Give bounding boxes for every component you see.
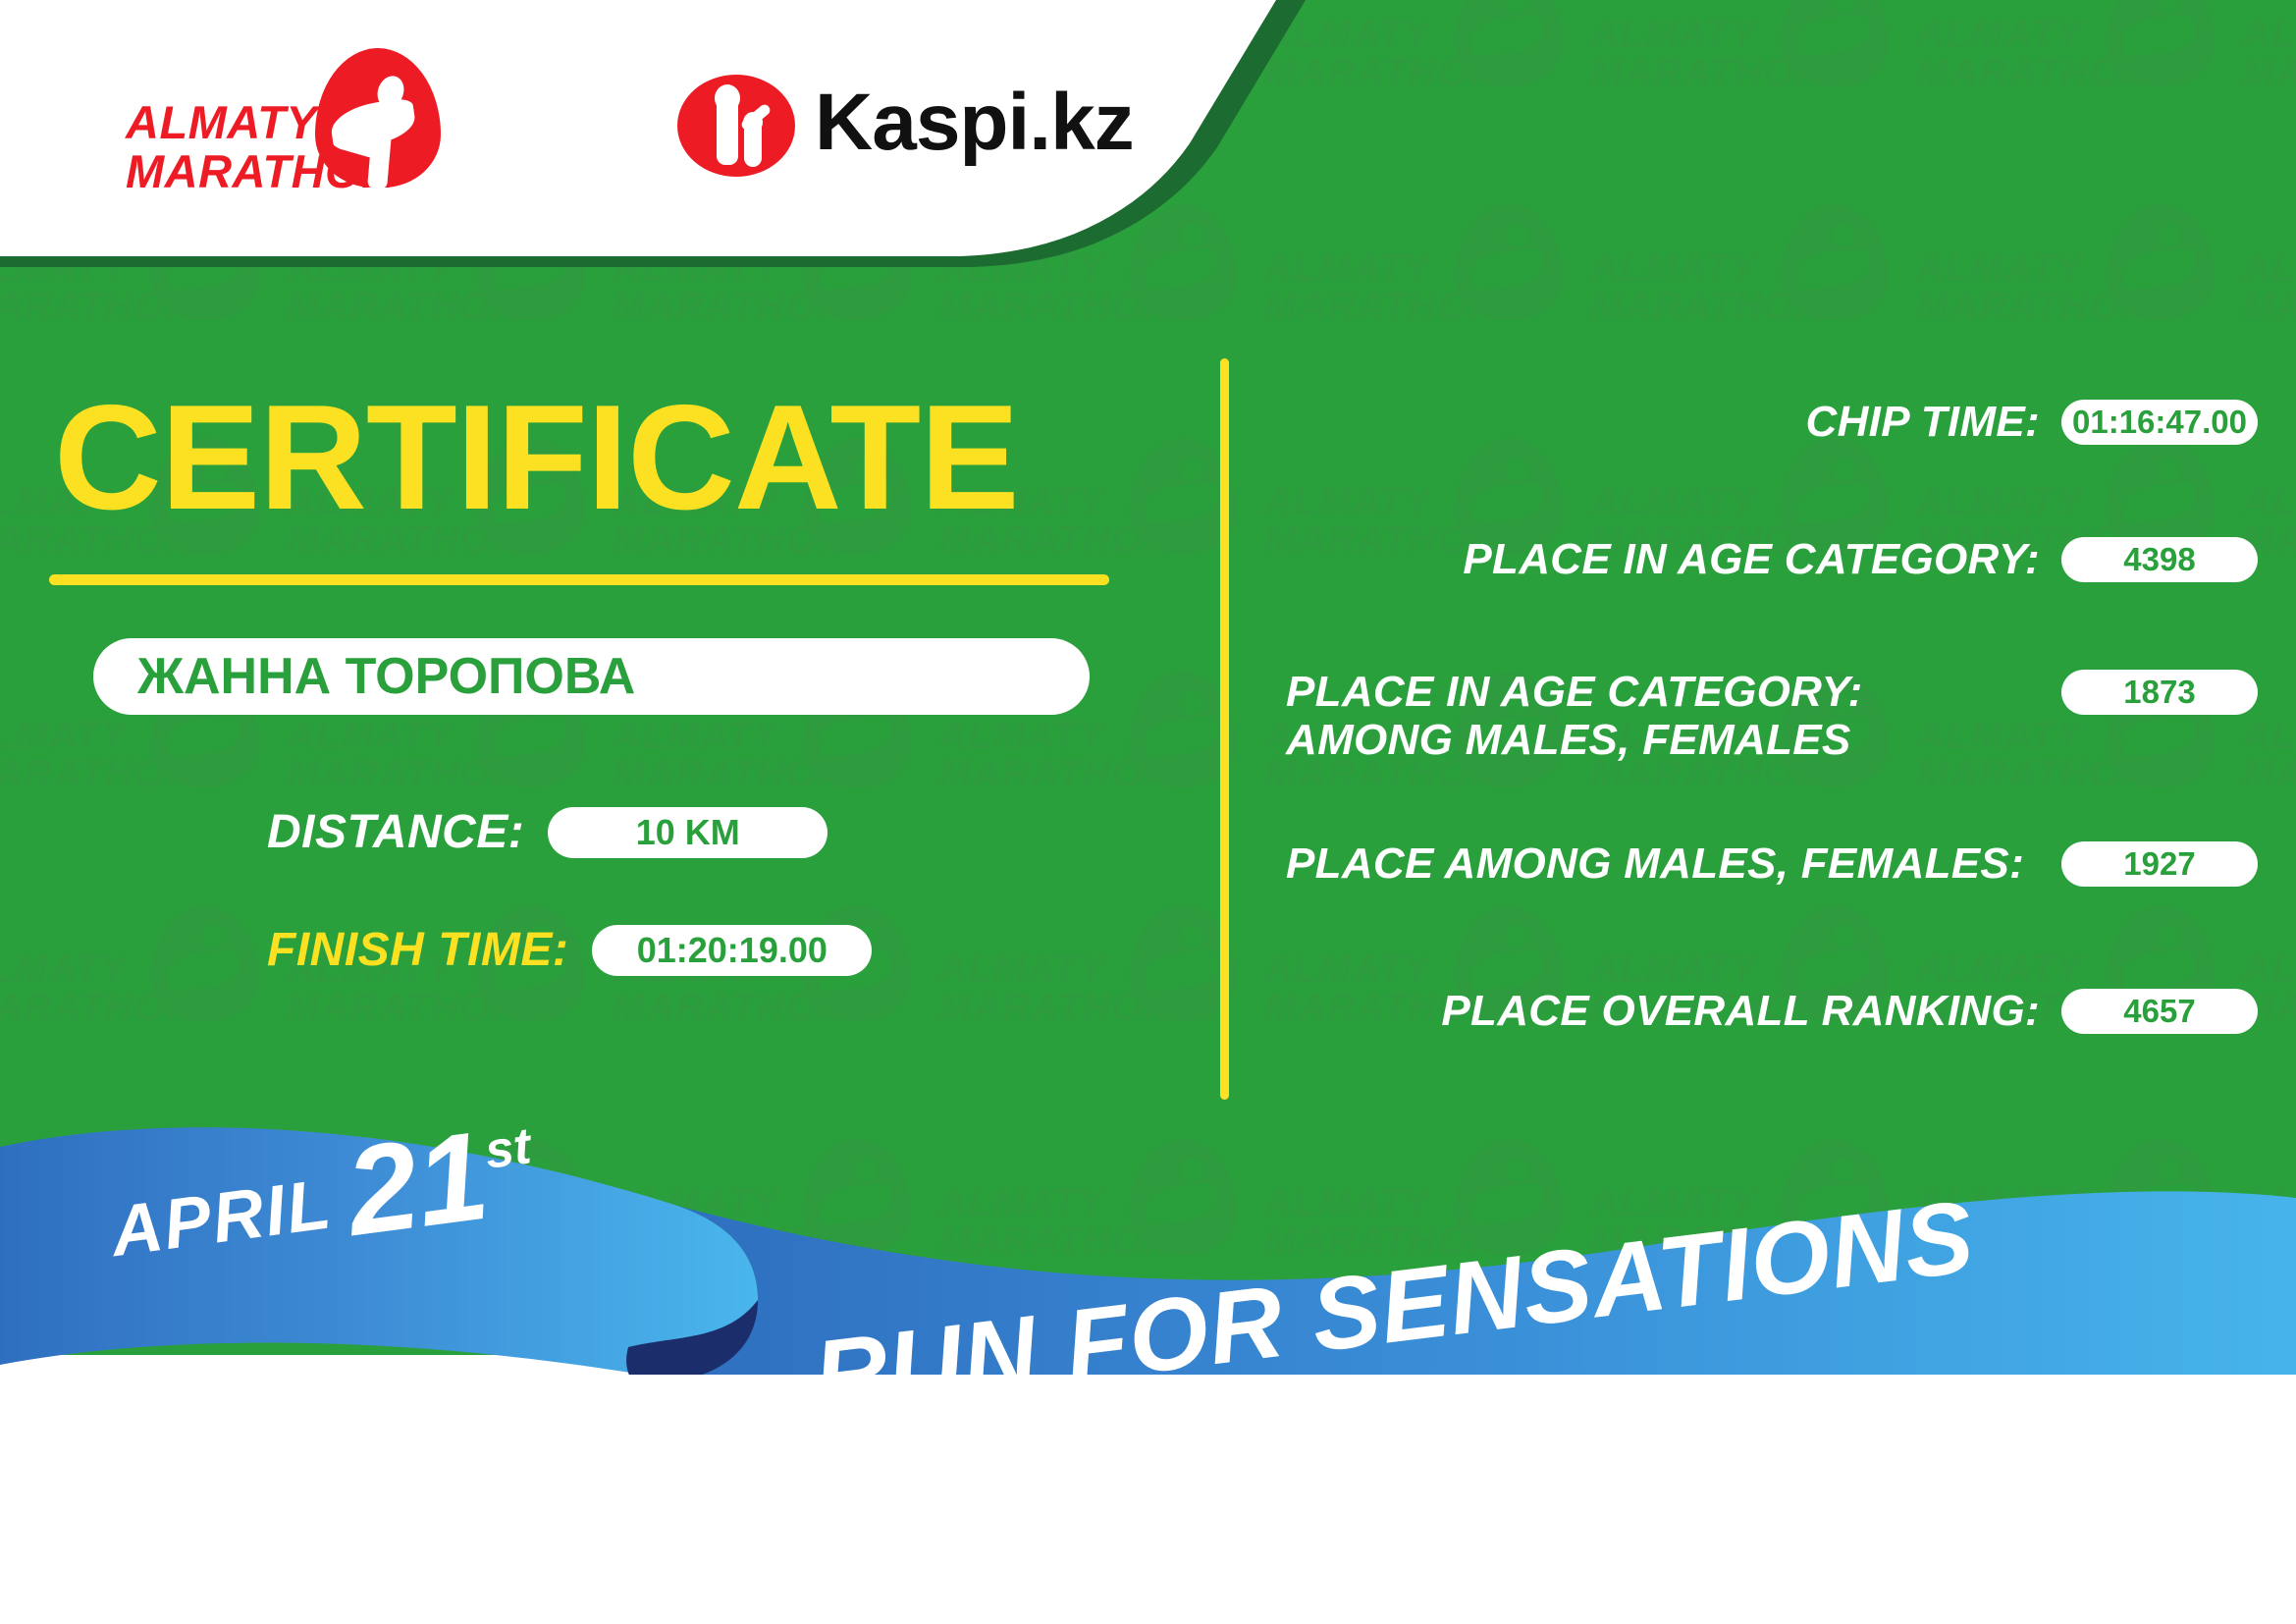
distance-label: DISTANCE: [267,805,524,859]
almaty-marathon-logo: ALMATY MARATHON [126,51,440,198]
result-row-place-age-category-gender: PLACE IN AGE CATEGORY: AMONG MALES, FEMA… [1276,668,2258,765]
certificate-page: ALMATYMARATHONALMATYMARATHONALMATYMARATH… [0,0,2296,1624]
kaspi-adult-body [717,88,738,165]
place-among-gender-value: 1927 [2123,845,2195,883]
kaspi-logo: Kaspi.kz [677,69,1090,187]
place-overall-label: PLACE OVERALL RANKING: [1276,987,2061,1035]
place-overall-value: 4657 [2123,993,2195,1030]
distance-value-pill: 10 KM [548,807,828,858]
place-overall-value-pill: 4657 [2061,989,2258,1034]
place-among-gender-value-pill: 1927 [2061,841,2258,887]
event-day: 21 [341,1119,494,1250]
place-age-category-gender-value: 1873 [2123,674,2195,711]
place-age-category-gender-value-pill: 1873 [2061,670,2258,715]
finish-time-row: FINISH TIME: 01:20:19.00 [267,923,872,977]
chip-time-value: 01:16:47.00 [2072,404,2247,441]
place-age-category-value: 4398 [2123,541,2195,578]
distance-row: DISTANCE: 10 KM [267,805,828,859]
result-row-place-age-category: PLACE IN AGE CATEGORY: 4398 [1276,535,2258,583]
kaspi-child-body [744,118,762,167]
column-divider [1220,358,1229,1100]
kaspi-people-icon [677,75,795,177]
chip-time-label: CHIP TIME: [1276,398,2061,446]
result-row-place-among-gender: PLACE AMONG MALES, FEMALES: 1927 [1276,839,2258,888]
finish-time-value-pill: 01:20:19.00 [592,925,872,976]
place-among-gender-label: PLACE AMONG MALES, FEMALES: [1276,839,2061,888]
sponsor-bar: Sulpak SANOFI Empowering Life ORIFLAME S… [0,1375,2296,1624]
finish-time-label: FINISH TIME: [267,923,568,977]
runner-droplet-icon [315,48,441,188]
event-day-ordinal: st [482,1116,535,1181]
kaspi-wordmark: Kaspi.kz [815,77,1134,169]
participant-name-field: ЖАННА ТОРОПОВА [93,638,1090,715]
place-age-category-value-pill: 4398 [2061,537,2258,582]
participant-name: ЖАННА ТОРОПОВА [137,647,635,706]
header-logos: ALMATY MARATHON Kaspi.kz [0,0,1178,279]
result-row-chip-time: CHIP TIME: 01:16:47.00 [1276,398,2258,446]
chip-time-value-pill: 01:16:47.00 [2061,400,2258,445]
distance-value: 10 KM [636,812,740,853]
finish-time-value: 01:20:19.00 [637,930,828,971]
place-age-category-gender-label: PLACE IN AGE CATEGORY: AMONG MALES, FEMA… [1276,668,2061,765]
place-age-category-label: PLACE IN AGE CATEGORY: [1276,535,2061,583]
result-row-place-overall: PLACE OVERALL RANKING: 4657 [1276,987,2258,1035]
title-underline [49,574,1109,585]
page-title: CERTIFICATE [54,383,1019,532]
